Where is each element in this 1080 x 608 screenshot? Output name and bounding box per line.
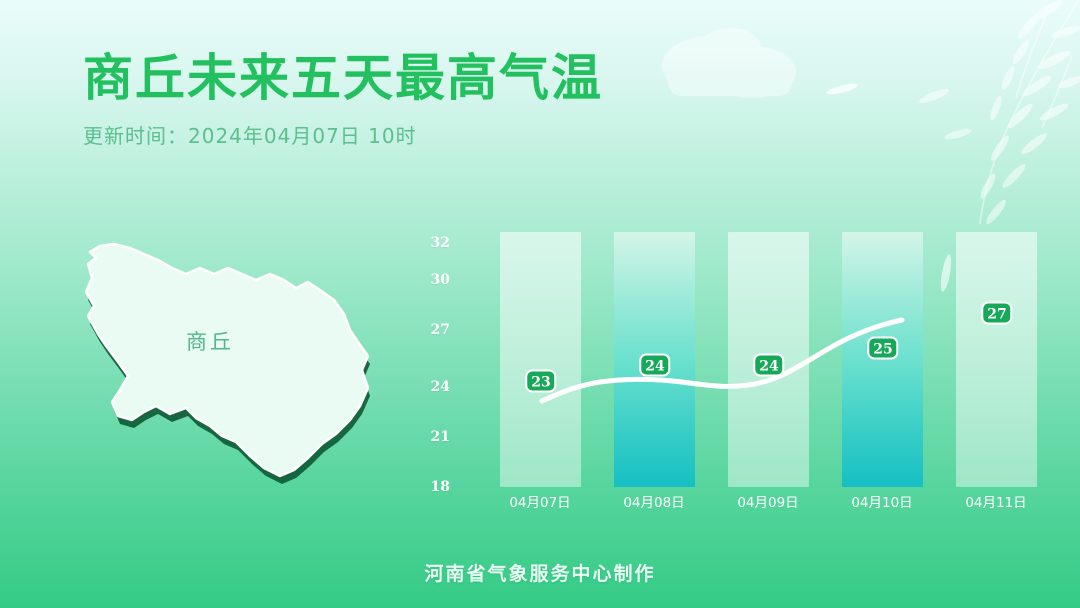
value-badge: 23 (525, 370, 556, 393)
x-tick: 04月11日 (941, 491, 1051, 511)
plot-area: 23 24 24 25 27 04月07日 04月08日 04月09日 04月1… (460, 225, 1020, 515)
y-axis: 32 30 27 24 21 18 (420, 225, 450, 495)
region-map (60, 238, 400, 500)
willow-branch-icon (896, 0, 1080, 236)
y-tick: 24 (431, 379, 450, 395)
value-badge: 24 (639, 354, 670, 377)
value-badge: 25 (867, 337, 898, 360)
x-tick: 04月10日 (827, 491, 937, 511)
update-time: 更新时间：2024年04月07日 10时 (83, 120, 603, 149)
petal-icon (825, 82, 859, 96)
x-tick: 04月09日 (713, 491, 823, 511)
header: 商丘未来五天最高气温 更新时间：2024年04月07日 10时 (83, 50, 603, 149)
y-tick: 27 (431, 322, 450, 338)
x-tick: 04月08日 (599, 491, 709, 511)
y-tick: 21 (431, 429, 450, 445)
temperature-chart: 32 30 27 24 21 18 23 24 24 25 27 04月07日 … (420, 225, 1020, 515)
value-badge: 24 (753, 354, 784, 377)
y-tick: 18 (431, 479, 450, 495)
map-region-label: 商丘 (186, 326, 234, 356)
cloud-icon (648, 22, 818, 102)
y-tick: 30 (431, 272, 450, 288)
value-badge: 27 (981, 302, 1012, 325)
x-tick: 04月07日 (485, 491, 595, 511)
page-title: 商丘未来五天最高气温 (83, 50, 603, 106)
footer-credit: 河南省气象服务中心制作 (0, 559, 1080, 586)
y-tick: 32 (431, 235, 450, 251)
